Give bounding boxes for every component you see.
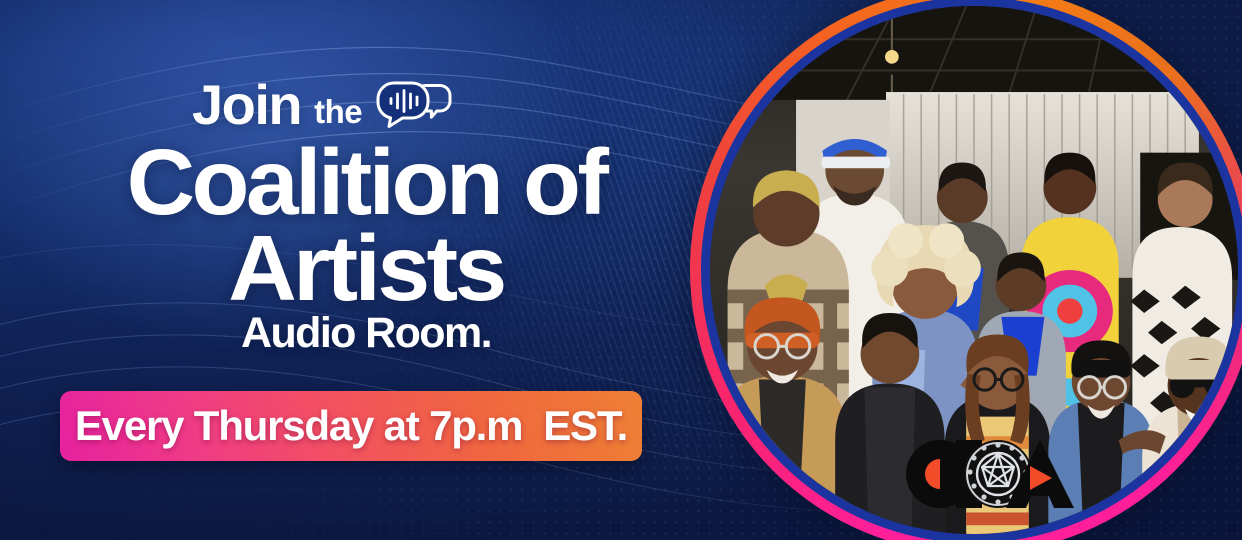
promo-banner: Join the xyxy=(0,0,1242,540)
audio-chat-bubbles-icon xyxy=(375,78,453,135)
schedule-cta-button[interactable]: Every Thursday at 7p.m EST. xyxy=(60,391,642,461)
headline-line-1: Coalition of xyxy=(80,140,651,226)
page-title: Coalition of Artists xyxy=(86,140,646,311)
join-the-row: Join the xyxy=(192,76,453,133)
headline-line-2: Artists xyxy=(80,226,651,312)
photo-ring xyxy=(690,0,1242,540)
subtitle: Audio Room. xyxy=(86,312,646,355)
join-word: Join xyxy=(192,77,301,133)
copy-column: Join the xyxy=(0,0,700,540)
photo-ring-inner xyxy=(701,0,1242,540)
schedule-cta-label: Every Thursday at 7p.m EST. xyxy=(75,402,627,450)
the-word: the xyxy=(314,95,362,128)
group-photo xyxy=(710,6,1238,534)
coa-logo xyxy=(906,436,1078,512)
